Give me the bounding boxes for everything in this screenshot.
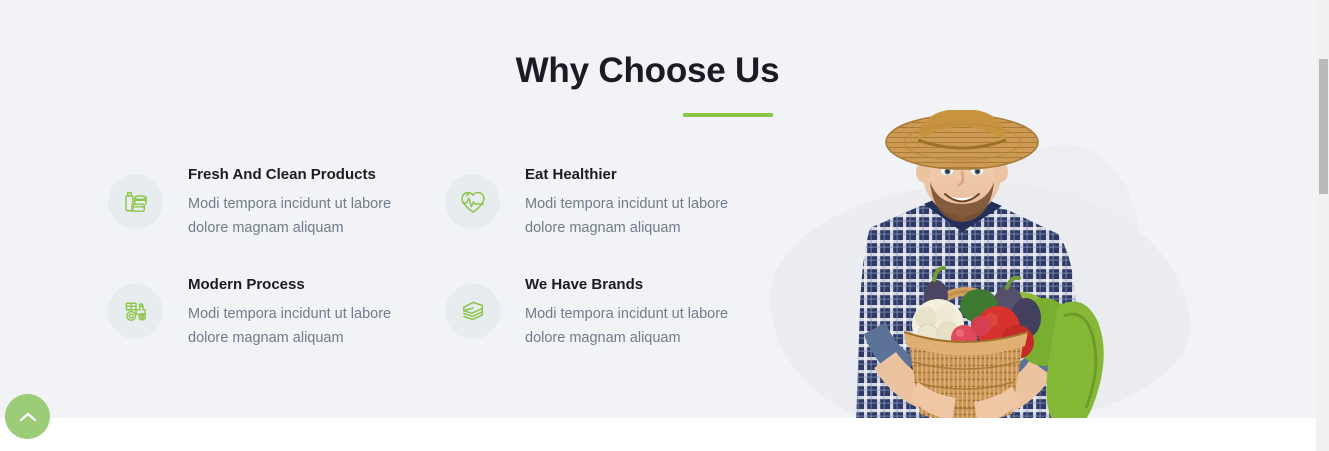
heartbeat-icon (445, 174, 500, 229)
feature-text-block: We Have Brands Modi tempora incidunt ut … (525, 275, 770, 350)
vertical-scrollbar-thumb[interactable] (1319, 59, 1328, 194)
tractor-icon (108, 284, 163, 339)
feature-item-modern-process[interactable]: Modern Process Modi tempora incidunt ut … (108, 275, 445, 385)
feature-description: Modi tempora incidunt ut labore dolore m… (525, 302, 770, 350)
feature-title: Fresh And Clean Products (188, 165, 433, 185)
feature-text-block: Modern Process Modi tempora incidunt ut … (188, 275, 433, 350)
section-heading-wrap: Why Choose Us (0, 50, 1295, 92)
feature-title: We Have Brands (525, 275, 770, 295)
feature-description: Modi tempora incidunt ut labore dolore m… (525, 192, 770, 240)
vertical-scrollbar-track[interactable] (1316, 0, 1329, 451)
jars-icon (108, 174, 163, 229)
chevron-up-icon (19, 411, 37, 423)
feature-item-fresh-and-clean-products[interactable]: Fresh And Clean Products Modi tempora in… (108, 165, 445, 275)
heading-underline-accent (683, 113, 773, 117)
feature-title: Eat Healthier (525, 165, 770, 185)
feature-text-block: Fresh And Clean Products Modi tempora in… (188, 165, 433, 240)
feature-item-eat-healthier[interactable]: Eat Healthier Modi tempora incidunt ut l… (445, 165, 782, 275)
feature-title: Modern Process (188, 275, 433, 295)
scroll-to-top-button[interactable] (5, 394, 50, 439)
farmer-with-vegetable-basket-photo (812, 110, 1122, 418)
page-container: Why Choose Us (0, 0, 1316, 451)
feature-description: Modi tempora incidunt ut labore dolore m… (188, 302, 433, 350)
feature-grid: Fresh And Clean Products Modi tempora in… (108, 165, 788, 385)
feature-item-we-have-brands[interactable]: We Have Brands Modi tempora incidunt ut … (445, 275, 782, 385)
feature-description: Modi tempora incidunt ut labore dolore m… (188, 192, 433, 240)
why-choose-us-section: Why Choose Us (0, 5, 1316, 418)
page-title: Why Choose Us (0, 50, 1295, 92)
layers-icon (445, 284, 500, 339)
feature-text-block: Eat Healthier Modi tempora incidunt ut l… (525, 165, 770, 240)
